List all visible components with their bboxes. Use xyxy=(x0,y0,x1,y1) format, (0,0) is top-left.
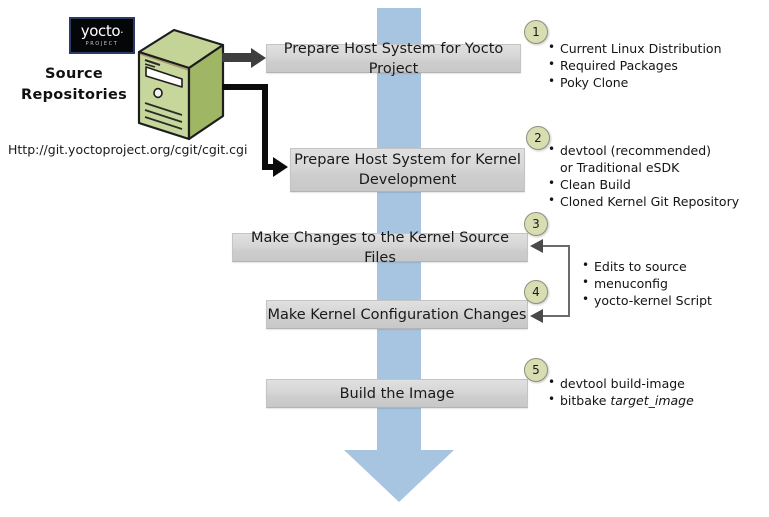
feedback-bracket-vertical xyxy=(568,245,570,317)
step-5-bullets: devtool build-image bitbake target_image xyxy=(548,375,733,409)
list-item: Cloned Kernel Git Repository xyxy=(548,193,723,210)
source-repositories-label: Source Repositories xyxy=(10,64,138,106)
connector-server-to-step2-vertical xyxy=(262,84,268,169)
list-item: Poky Clone xyxy=(548,74,748,91)
step-box-2[interactable]: Prepare Host System for Kernel Developme… xyxy=(290,148,525,192)
source-repositories-label-line2: Repositories xyxy=(10,85,138,106)
connector-server-to-step1-arrowhead-icon xyxy=(251,48,266,68)
source-repositories-url: Http://git.yoctoproject.org/cgit/cgit.cg… xyxy=(8,142,247,157)
feedback-bracket-top-horizontal xyxy=(543,245,570,247)
step-box-2-label-line1: Prepare Host System for Kernel xyxy=(294,150,521,170)
step-box-3-label: Make Changes to the Kernel Source Files xyxy=(233,228,527,268)
step-box-5-label: Build the Image xyxy=(340,384,455,404)
list-item: Clean Build xyxy=(548,176,723,193)
feedback-bracket-bottom-arrowhead-icon xyxy=(530,309,543,323)
list-item: bitbake target_image xyxy=(548,392,733,409)
step-number-2-text: 2 xyxy=(534,131,542,145)
yocto-project-logo: yocto· PROJECT xyxy=(69,17,135,54)
list-item: menuconfig xyxy=(582,275,752,292)
yocto-logo-subtext: PROJECT xyxy=(86,42,119,47)
list-item: devtool build-image xyxy=(548,375,733,392)
step-number-4-text: 4 xyxy=(532,285,540,299)
step-box-1[interactable]: Prepare Host System for Yocto Project xyxy=(266,44,521,73)
step-number-1-text: 1 xyxy=(532,25,540,39)
kernel-edit-bullets: Edits to source menuconfig yocto-kernel … xyxy=(582,258,752,309)
step-number-5-text: 5 xyxy=(532,363,540,377)
diagram-canvas: yocto· PROJECT Source Repositories Http:… xyxy=(0,0,769,517)
step-box-5[interactable]: Build the Image xyxy=(266,379,528,408)
step-box-4[interactable]: Make Kernel Configuration Changes xyxy=(266,300,528,329)
step-box-1-label: Prepare Host System for Yocto Project xyxy=(267,39,520,79)
step-box-3[interactable]: Make Changes to the Kernel Source Files xyxy=(232,233,528,262)
step-2-bullets: devtool (recommended) or Traditional eSD… xyxy=(548,142,723,210)
yocto-logo-dot: · xyxy=(120,26,123,39)
bitbake-command-prefix: bitbake xyxy=(560,393,610,408)
server-icon xyxy=(136,27,226,142)
step-number-5: 5 xyxy=(524,358,548,382)
step-1-bullets: Current Linux Distribution Required Pack… xyxy=(548,40,748,91)
step-number-2: 2 xyxy=(526,126,550,150)
step-number-1: 1 xyxy=(524,20,548,44)
step-number-4: 4 xyxy=(524,280,548,304)
step-number-3: 3 xyxy=(524,212,548,236)
flow-arrow-head-icon xyxy=(344,450,454,502)
list-item: Required Packages xyxy=(548,57,748,74)
step-box-2-label-line2: Development xyxy=(359,170,457,190)
bitbake-target-image-variable: target_image xyxy=(610,393,693,408)
yocto-logo-word-text: yocto xyxy=(81,22,120,40)
list-item: Edits to source xyxy=(582,258,752,275)
source-repositories-label-line1: Source xyxy=(10,64,138,85)
connector-server-to-step1 xyxy=(222,53,252,62)
yocto-logo-wordmark: yocto· xyxy=(81,24,123,39)
connector-server-to-step2-arrowhead-icon xyxy=(273,157,288,177)
list-item: Current Linux Distribution xyxy=(548,40,748,57)
step-number-3-text: 3 xyxy=(532,217,540,231)
list-item: yocto-kernel Script xyxy=(582,292,752,309)
list-item: devtool (recommended) or Traditional eSD… xyxy=(548,142,723,176)
feedback-bracket-top-arrowhead-icon xyxy=(530,239,543,253)
step-box-4-label: Make Kernel Configuration Changes xyxy=(268,305,527,325)
feedback-bracket-bottom-horizontal xyxy=(543,315,570,317)
